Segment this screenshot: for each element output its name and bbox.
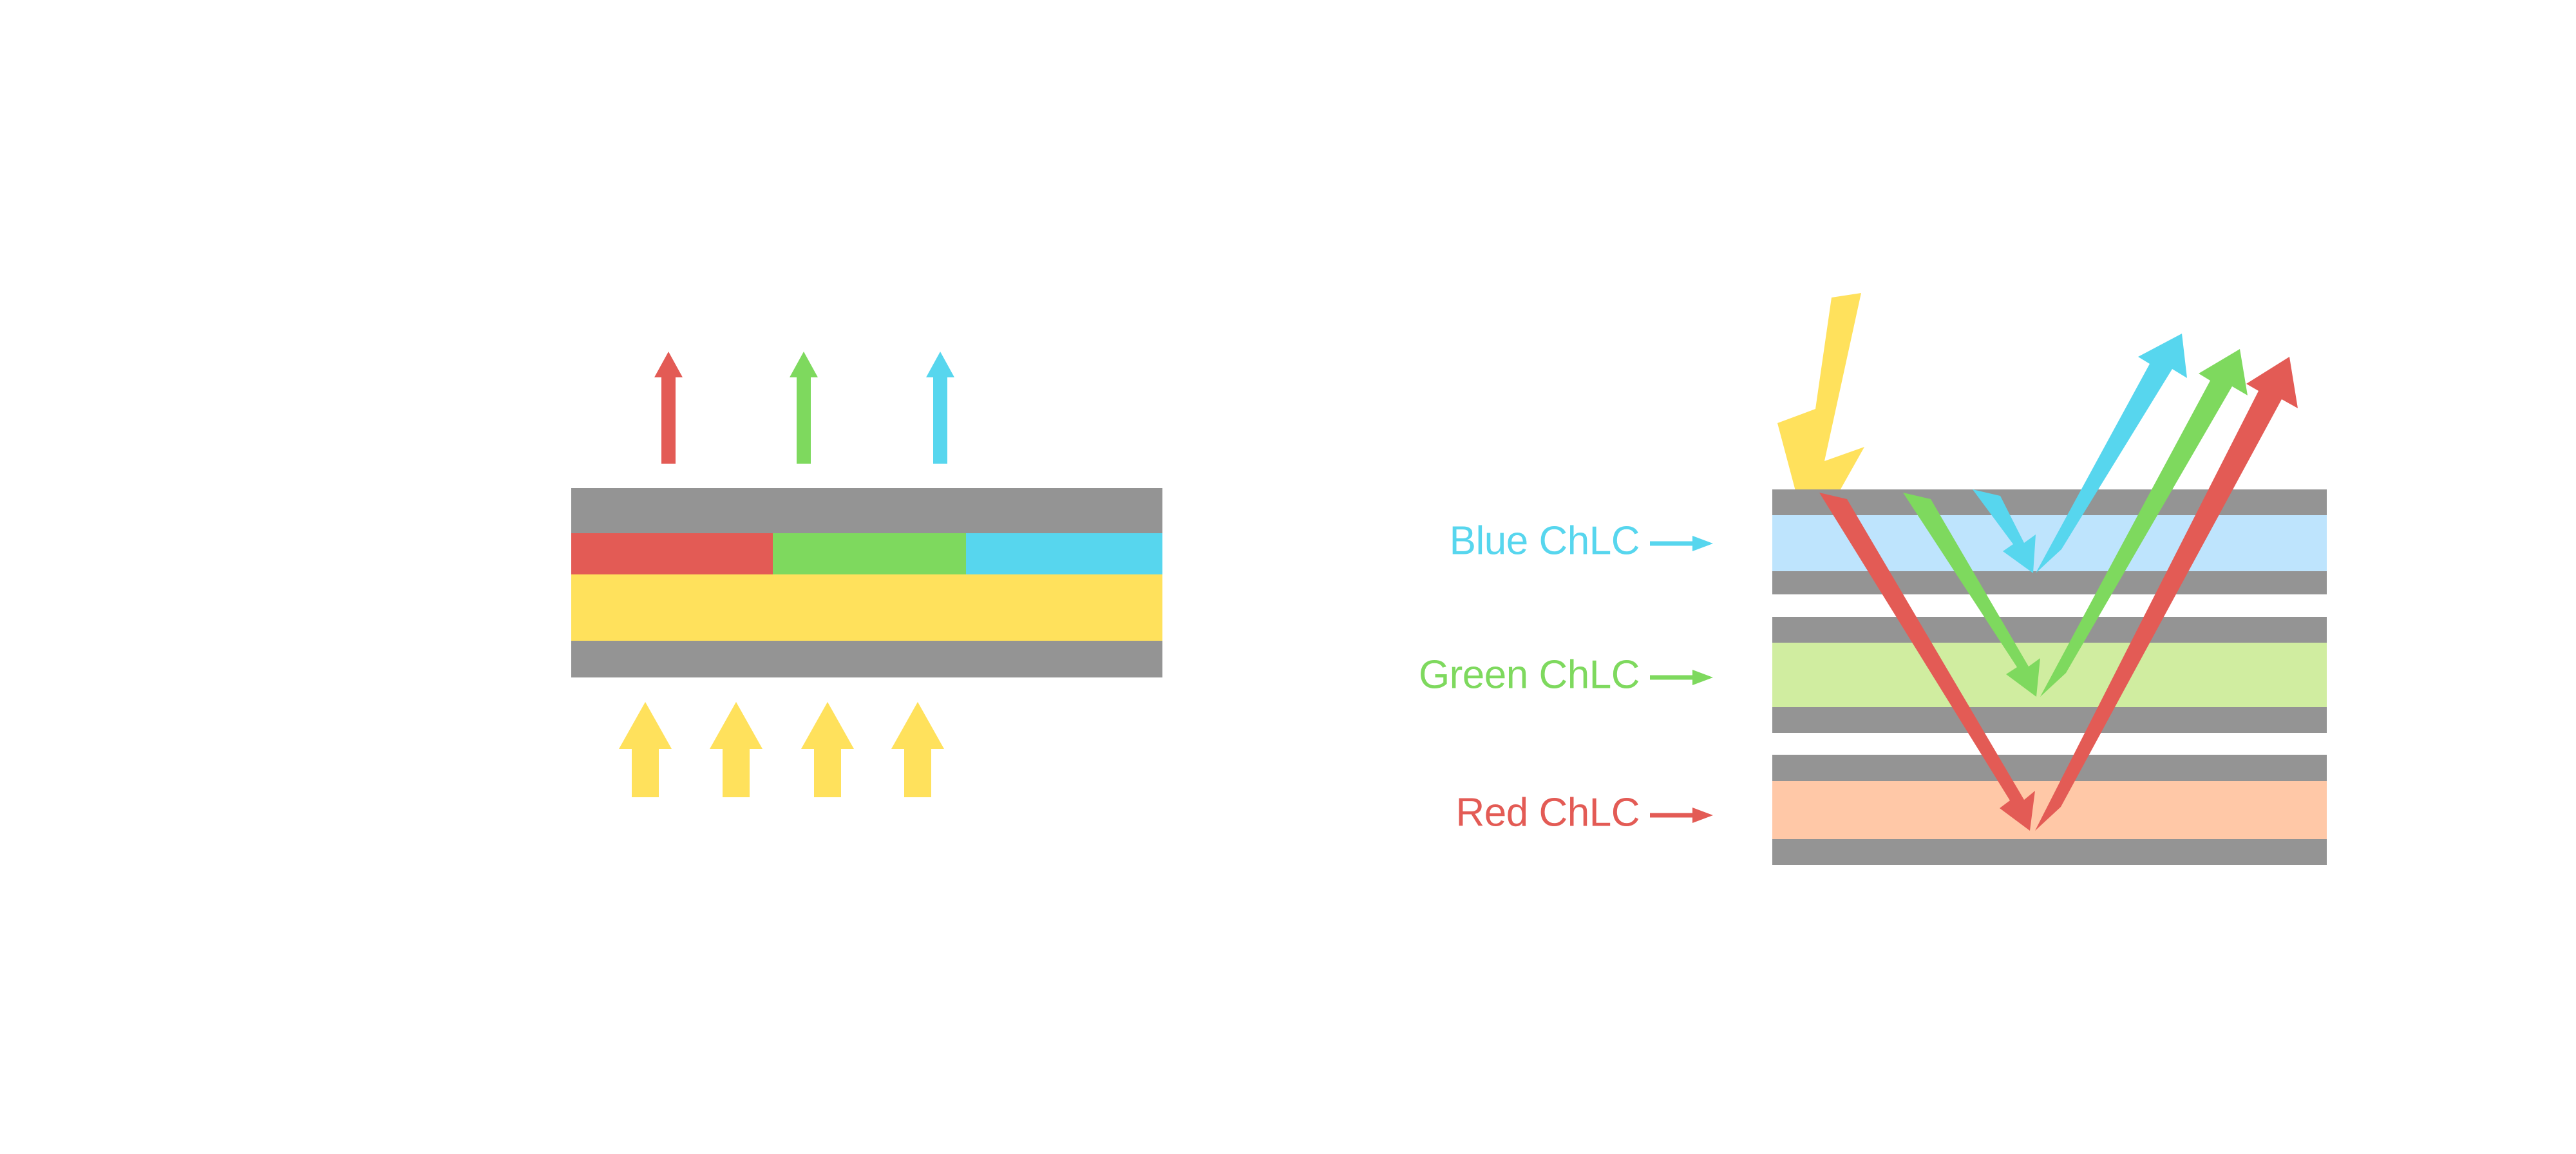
yellow-backlight-arrow-1 [619,702,672,797]
red-cell-bottom-electrode [1772,839,2327,865]
yellow-backlight [571,574,1162,641]
green-chlc-label-text: Green ChLC [1419,652,1640,697]
blue-cell-bottom-electrode [1772,571,2327,594]
green-cell-top-electrode [1772,617,2327,643]
red-cell-top-electrode [1772,755,2327,781]
yellow-backlight-arrow-4 [891,702,944,797]
bottom-substrate [571,641,1162,677]
red-chlc-label-text: Red ChLC [1456,790,1640,835]
blue-cell-top-electrode [1772,489,2327,515]
red-label-arrow-icon [1650,808,1713,823]
green-label-arrow-icon [1650,670,1713,685]
green-subpixel [773,533,966,574]
green-chlc-label: Green ChLC [1419,652,1713,697]
reflection-panel: Blue ChLC Green ChLC Red ChLC [1419,293,2327,865]
blue-label-arrow-icon [1650,536,1713,551]
figure-root: Blue ChLC Green ChLC Red ChLC [0,0,2576,1154]
emission-panel [571,352,1162,797]
green-cell-bottom-electrode [1772,707,2327,733]
blue-subpixel [966,533,1162,574]
green-emitted-arrow [790,352,818,464]
red-subpixel [571,533,773,574]
red-chlc-label: Red ChLC [1456,790,1713,835]
green-chlc-cell [1772,643,2327,707]
yellow-backlight-arrow-2 [710,702,762,797]
yellow-backlight-arrow-3 [801,702,854,797]
blue-emitted-arrow [926,352,954,464]
diagram-canvas: Blue ChLC Green ChLC Red ChLC [0,0,2576,1154]
blue-chlc-label: Blue ChLC [1450,518,1713,563]
blue-chlc-label-text: Blue ChLC [1450,518,1640,563]
red-emitted-arrow [654,352,683,464]
top-substrate [571,488,1162,533]
